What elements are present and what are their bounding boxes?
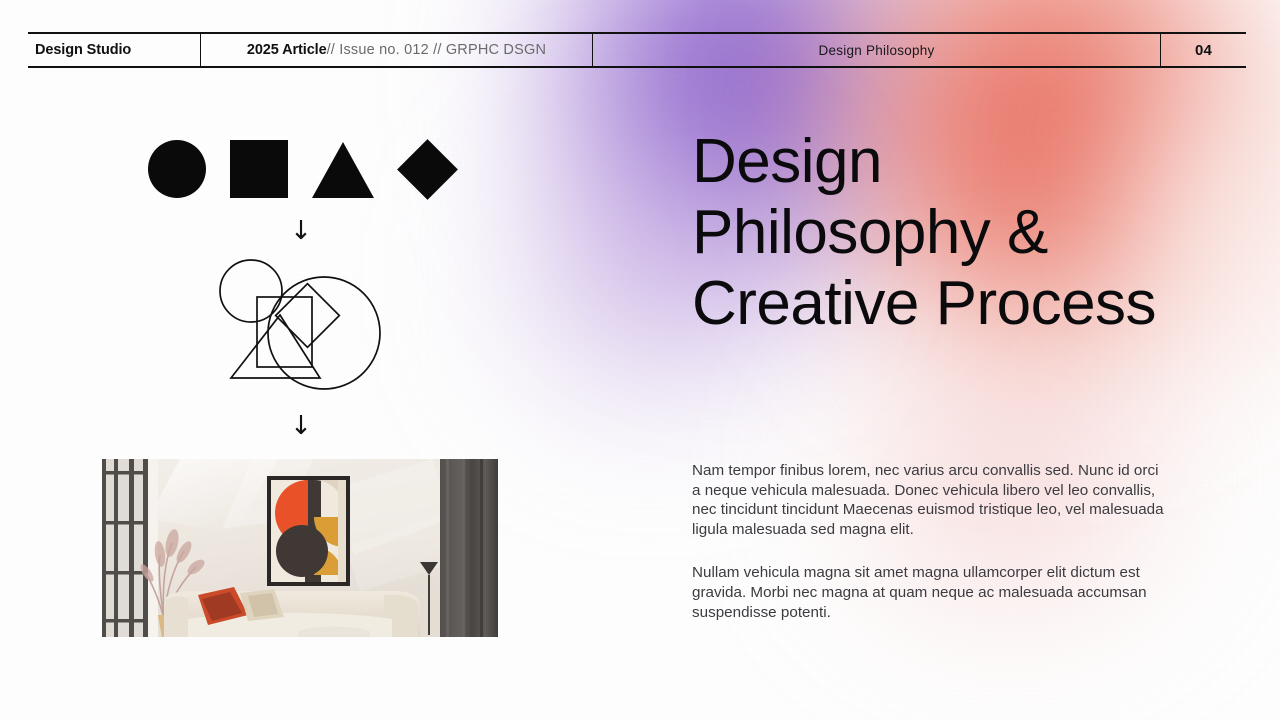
solid-circle-icon <box>148 140 206 198</box>
body-paragraph-2: Nullam vehicula magna sit amet magna ull… <box>692 563 1164 622</box>
header-section-title: Design Philosophy <box>592 34 1160 66</box>
header-issue-year: 2025 Article <box>247 42 327 58</box>
outline-shapes-composition <box>200 255 420 395</box>
solid-square-icon <box>230 140 288 198</box>
outline-shapes-svg <box>200 255 420 395</box>
header-brand: Design Studio <box>28 34 200 66</box>
interior-photo-illustration <box>102 459 498 637</box>
header-page-number: 04 <box>1160 34 1246 66</box>
down-arrow-icon-first: ↓ <box>288 218 314 244</box>
header-bar: Design Studio 2025 Article // Issue no. … <box>28 32 1246 68</box>
solid-triangle-icon <box>312 142 374 198</box>
left-visual-column: ↓ ↓ <box>0 110 620 670</box>
outline-large-circle-icon <box>268 277 380 389</box>
slide-canvas: Design Studio 2025 Article // Issue no. … <box>0 0 1280 720</box>
body-copy: Nam tempor finibus lorem, nec varius arc… <box>692 461 1164 622</box>
solid-diamond-icon <box>397 139 458 200</box>
header-issue-meta: 2025 Article // Issue no. 012 // GRPHC D… <box>200 34 592 66</box>
interior-photo <box>102 459 498 637</box>
body-paragraph-1: Nam tempor finibus lorem, nec varius arc… <box>692 461 1164 539</box>
page-title: Design Philosophy & Creative Process <box>692 126 1162 339</box>
solid-shapes-row <box>148 140 457 198</box>
header-issue-detail: // Issue no. 012 // GRPHC DSGN <box>327 42 547 58</box>
down-arrow-icon-second: ↓ <box>288 413 314 439</box>
